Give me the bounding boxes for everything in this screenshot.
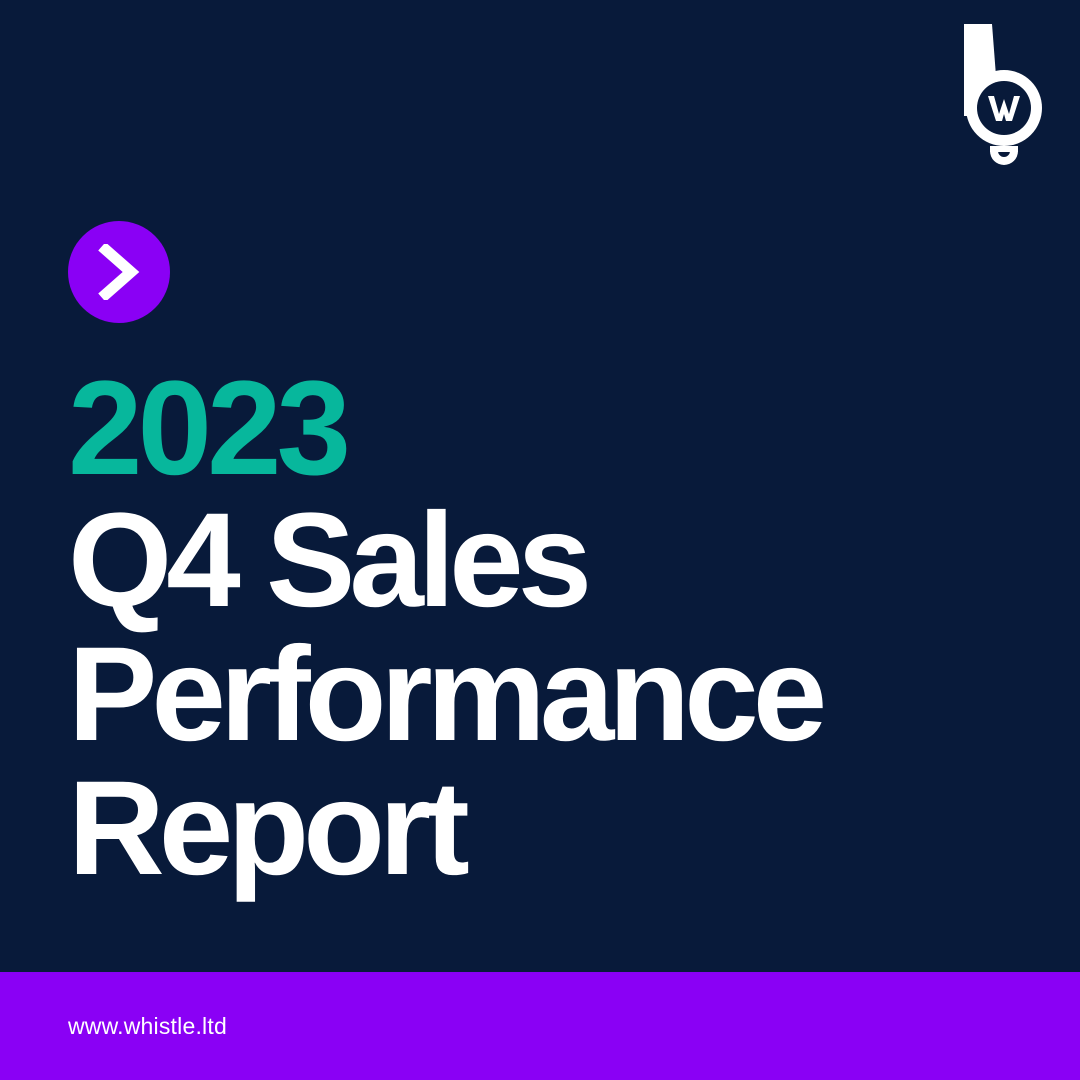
page-title: Q4 Sales Performance Report [68, 494, 1028, 896]
chevron-right-icon [97, 244, 141, 300]
headline-block: 2023 Q4 Sales Performance Report [68, 362, 1028, 896]
slide-canvas: 2023 Q4 Sales Performance Report www.whi… [0, 0, 1080, 1080]
page-title-line-2: Performance [68, 628, 1028, 762]
report-year: 2023 [68, 362, 1028, 496]
footer-bar: www.whistle.ltd [0, 972, 1080, 1080]
next-chevron-badge[interactable] [68, 221, 170, 323]
page-title-line-3: Report [68, 762, 1028, 896]
website-url[interactable]: www.whistle.ltd [68, 1013, 227, 1040]
whistle-b-monogram-logo[interactable] [952, 20, 1056, 172]
page-title-line-1: Q4 Sales [68, 494, 1028, 628]
